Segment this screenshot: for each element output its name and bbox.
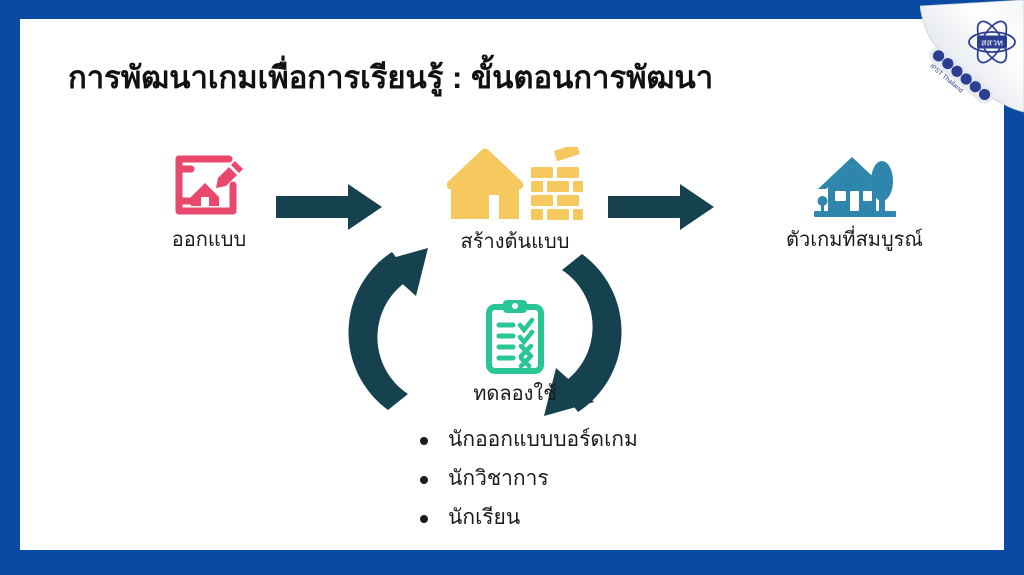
finished-house-tree-icon — [742, 149, 967, 221]
list-item: นักออกแบบบอร์ดเกม — [402, 425, 638, 455]
step-test-label: ทดลองใช้ — [420, 381, 610, 408]
step-complete-label: ตัวเกมที่สมบูรณ์ — [742, 227, 967, 254]
bullet-dot-icon — [420, 437, 428, 445]
step-design[interactable]: ออกแบบ — [124, 149, 294, 254]
list-item-label: นักออกแบบบอร์ดเกม — [448, 428, 638, 451]
step-design-label: ออกแบบ — [124, 227, 294, 254]
bullet-dot-icon — [420, 476, 428, 484]
tester-list: นักออกแบบบอร์ดเกม นักวิชาการ นักเรียน — [402, 425, 638, 541]
list-item-label: นักเรียน — [448, 506, 520, 529]
list-item-label: นักวิชาการ — [448, 467, 549, 490]
step-test[interactable]: ทดลองใช้ — [420, 299, 610, 408]
blueprint-house-pencil-icon — [124, 149, 294, 221]
step-complete[interactable]: ตัวเกมที่สมบูรณ์ — [742, 149, 967, 254]
list-item: นักวิชาการ — [402, 464, 638, 494]
list-item: นักเรียน — [402, 503, 638, 533]
bullet-dot-icon — [420, 515, 428, 523]
slide-content-area: การพัฒนาเกมเพื่อการเรียนรู้ : ขั้นตอนการ… — [20, 19, 1004, 550]
clipboard-checklist-icon — [420, 299, 610, 375]
slide-frame: การพัฒนาเกมเพื่อการเรียนรู้ : ขั้นตอนการ… — [0, 0, 1024, 575]
house-brickwall-icon — [405, 147, 625, 223]
